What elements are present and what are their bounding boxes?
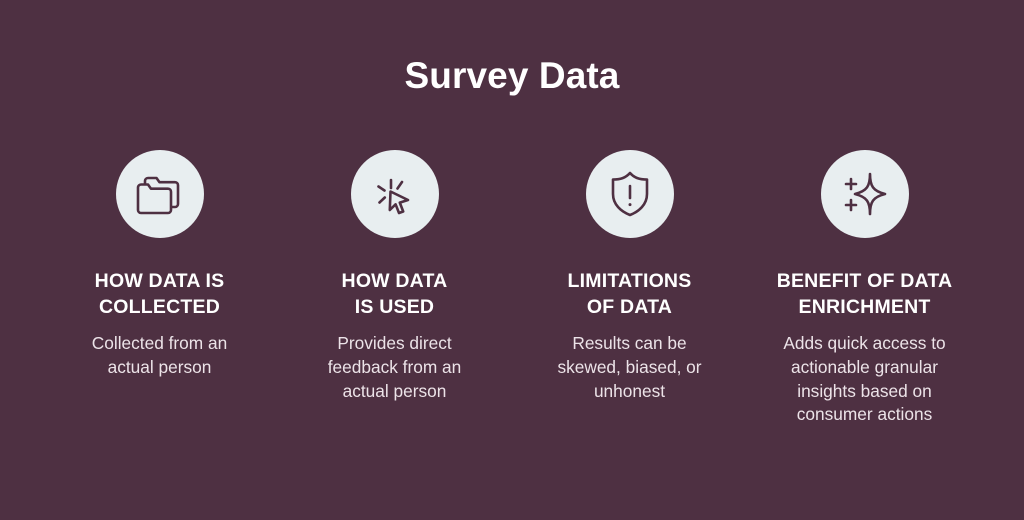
column-body-text: Provides direct feedback from an actual … (328, 332, 462, 404)
column-how-data-is-collected: HOW DATA IS COLLECTED Collected from an … (42, 150, 277, 380)
column-heading: BENEFIT OF DATA ENRICHMENT (777, 269, 953, 321)
shield-alert-icon (606, 169, 654, 219)
column-body-text: Results can be skewed, biased, or unhone… (557, 332, 701, 404)
column-heading: LIMITATIONS OF DATA (568, 269, 692, 321)
sparkle-star-icon (840, 169, 890, 219)
column-heading: HOW DATA IS COLLECTED (95, 269, 225, 321)
click-cursor-icon (370, 169, 420, 219)
icon-circle-benefit-of-data-enrichment (821, 150, 909, 238)
icon-circle-limitations-of-data (586, 150, 674, 238)
infographic-canvas: Survey Data HOW DATA IS COLLECTED Collec… (0, 0, 1024, 520)
folder-stack-icon (135, 171, 185, 217)
column-benefit-of-data-enrichment: BENEFIT OF DATA ENRICHMENT Adds quick ac… (747, 150, 982, 427)
page-title: Survey Data (0, 56, 1024, 97)
icon-circle-how-data-is-collected (116, 150, 204, 238)
column-body-text: Collected from an actual person (92, 332, 227, 380)
column-body-text: Adds quick access to actionable granular… (783, 332, 945, 427)
column-limitations-of-data: LIMITATIONS OF DATA Results can be skewe… (512, 150, 747, 403)
column-how-data-is-used: HOW DATA IS USED Provides direct feedbac… (277, 150, 512, 403)
column-group: HOW DATA IS COLLECTED Collected from an … (0, 150, 1024, 427)
column-heading: HOW DATA IS USED (342, 269, 448, 321)
icon-circle-how-data-is-used (351, 150, 439, 238)
